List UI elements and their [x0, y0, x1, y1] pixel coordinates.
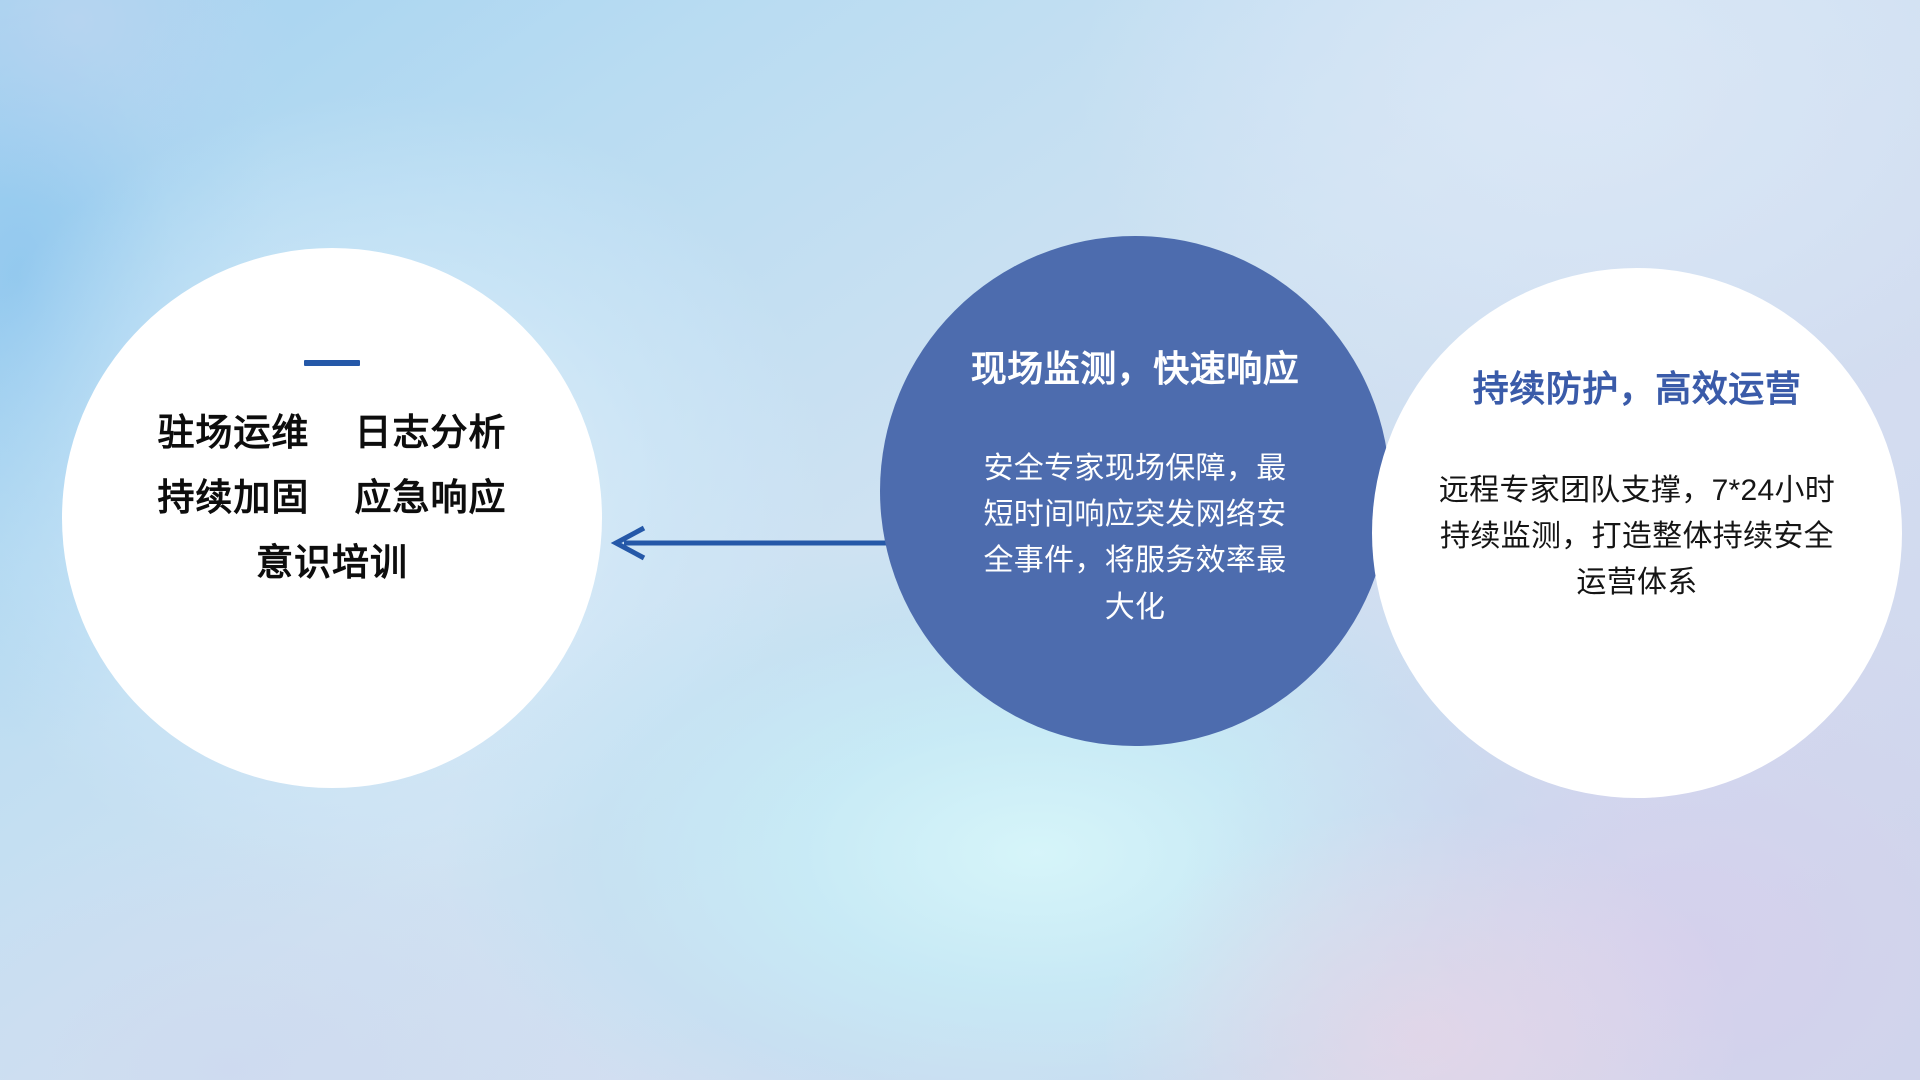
onsite-monitoring-heading: 现场监测，快速响应 — [971, 340, 1300, 392]
onsite-monitoring-body: 安全专家现场保障，最短时间响应突发网络安全事件，将服务效率最大化 — [970, 446, 1300, 631]
capability-list: 驻场运维 日志分析 持续加固 应急响应 意识培训 — [62, 414, 602, 583]
capability-line: 驻场运维 日志分析 — [157, 414, 506, 453]
flow-arrow-shape — [616, 528, 900, 558]
capability-line: 意识培训 — [256, 544, 408, 583]
flow-arrow — [600, 515, 900, 571]
divider-dash-icon — [304, 360, 360, 366]
continuous-protection-body: 远程专家团队支撑，7*24小时持续监测，打造整体持续安全运营体系 — [1427, 468, 1847, 607]
continuous-protection-circle: 持续防护，高效运营 远程专家团队支撑，7*24小时持续监测，打造整体持续安全运营… — [1372, 268, 1902, 798]
left-capability-circle: 驻场运维 日志分析 持续加固 应急响应 意识培训 — [62, 248, 602, 788]
continuous-protection-heading: 持续防护，高效运营 — [1473, 360, 1802, 412]
onsite-monitoring-circle: 现场监测，快速响应 安全专家现场保障，最短时间响应突发网络安全事件，将服务效率最… — [880, 236, 1390, 746]
slide-canvas: 驻场运维 日志分析 持续加固 应急响应 意识培训 现场监测，快速响应 安全专家现… — [0, 0, 1920, 1080]
capability-line: 持续加固 应急响应 — [157, 479, 506, 518]
